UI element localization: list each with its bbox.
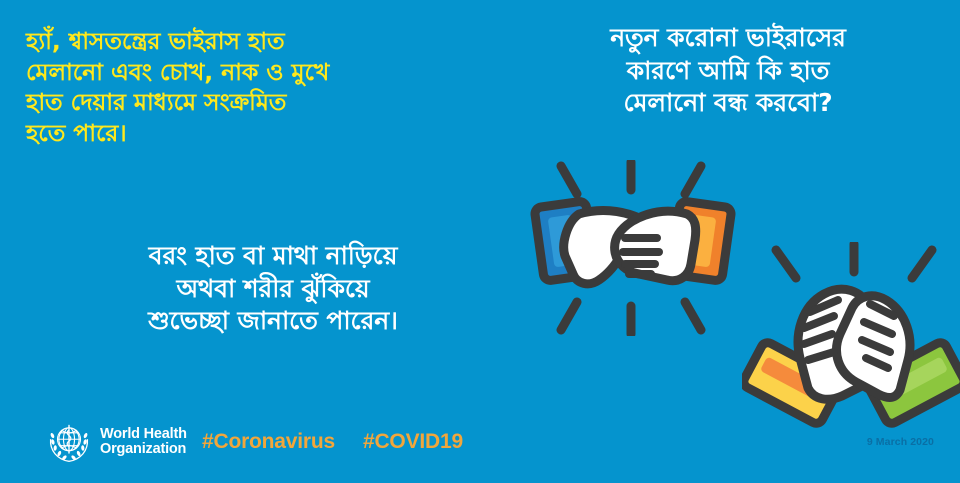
hashtag-coronavirus[interactable]: #Coronavirus bbox=[202, 430, 335, 454]
clasped-hands-illustration bbox=[742, 242, 960, 432]
handshake-radiating-dashes-top bbox=[561, 162, 701, 194]
hashtag-covid19[interactable]: #COVID19 bbox=[363, 430, 463, 454]
advice-text: বরং হাত বা মাথা নাড়িয়ে অথবা শরীর ঝুঁকি… bbox=[58, 240, 488, 338]
footer: World Health Organization #Coronavirus #… bbox=[0, 405, 960, 483]
handshake-radiating-dashes-bottom bbox=[561, 302, 701, 334]
handshake-illustration bbox=[521, 160, 745, 336]
clasping-hands bbox=[564, 211, 696, 284]
infographic-poster: হ্যাঁ, শ্বাসতন্ত্রের ভাইরাস হাত মেলানো এ… bbox=[0, 0, 960, 483]
who-logo: World Health Organization bbox=[46, 419, 187, 465]
question-text: নতুন করোনা ভাইরাসের কারণে আমি কি হাত মেল… bbox=[508, 22, 948, 120]
who-wordmark: World Health Organization bbox=[100, 427, 187, 458]
answer-text: হ্যাঁ, শ্বাসতন্ত্রের ভাইরাস হাত মেলানো এ… bbox=[26, 26, 466, 148]
gripping-hands bbox=[798, 289, 910, 399]
hashtag-list: #Coronavirus #COVID19 bbox=[202, 430, 463, 454]
who-emblem-icon bbox=[46, 419, 92, 465]
clasp-radiating-dashes bbox=[776, 244, 932, 278]
date-stamp: 9 March 2020 bbox=[867, 436, 934, 448]
